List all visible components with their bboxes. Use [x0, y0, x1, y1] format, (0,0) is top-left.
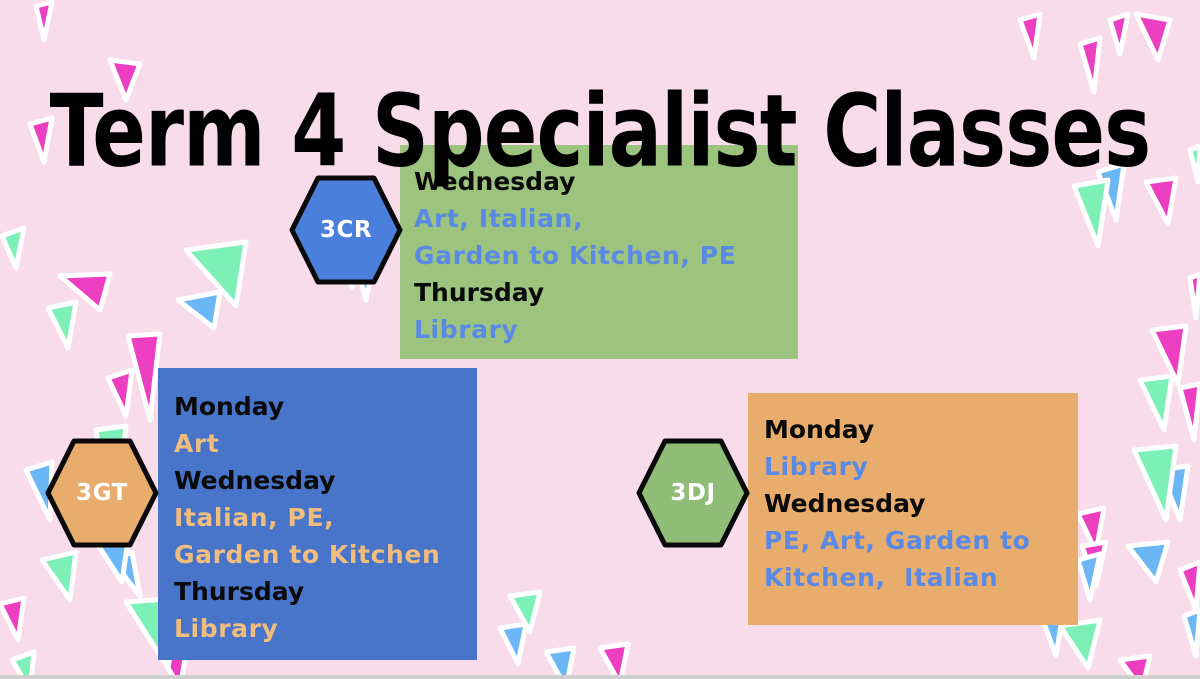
hexagon-icon — [636, 437, 750, 549]
class-badge-3gt: 3GT — [45, 437, 159, 549]
class-badge-3dj: 3DJ — [636, 437, 750, 549]
day-heading: Monday — [174, 388, 457, 425]
day-heading: Wednesday — [764, 485, 1058, 522]
day-heading: Wednesday — [174, 462, 457, 499]
day-heading: Monday — [764, 411, 1058, 448]
subject-line: Library — [764, 448, 1058, 485]
day-heading: Thursday — [414, 274, 778, 311]
subject-line: Library — [414, 311, 778, 348]
class-badge-3cr: 3CR — [289, 174, 403, 286]
hexagon-icon — [45, 437, 159, 549]
subject-line: Art — [174, 425, 457, 462]
hexagon-icon — [289, 174, 403, 286]
subject-line: Garden to Kitchen — [174, 536, 457, 573]
subject-line: Library — [174, 610, 457, 647]
subject-line: PE, Art, Garden to — [764, 522, 1058, 559]
poster-canvas: Term 4 Specialist Classes Wednesday Art,… — [0, 0, 1200, 679]
subject-line: Kitchen, Italian — [764, 559, 1058, 596]
page-title: Term 4 Specialist Classes — [48, 76, 1152, 187]
subject-line: Art, Italian, — [414, 200, 778, 237]
subject-line: Italian, PE, — [174, 499, 457, 536]
day-heading: Thursday — [174, 573, 457, 610]
class-card-3dj: Monday Library Wednesday PE, Art, Garden… — [748, 393, 1078, 625]
subject-line: Garden to Kitchen, PE — [414, 237, 778, 274]
class-card-3gt: Monday Art Wednesday Italian, PE, Garden… — [158, 368, 477, 660]
